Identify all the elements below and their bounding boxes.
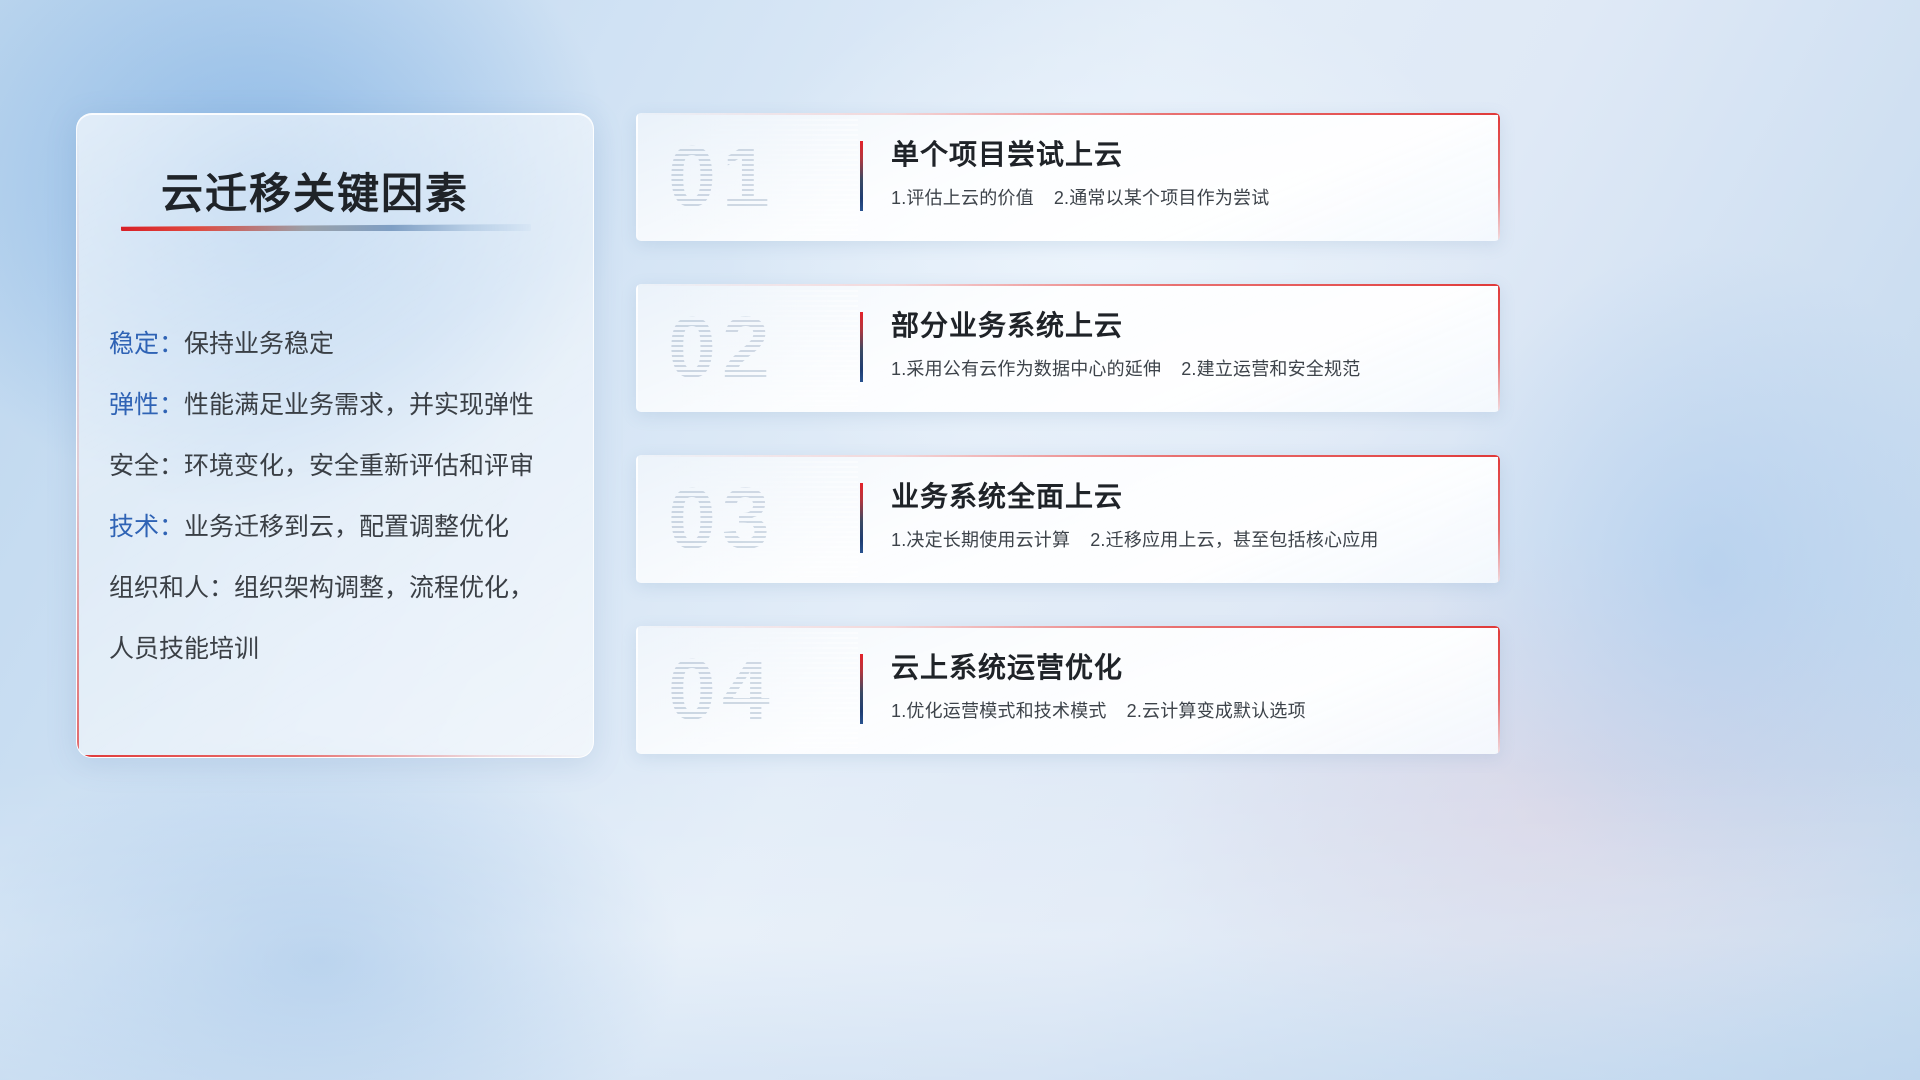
factor-key: 技术： (109, 513, 184, 541)
factor-key: 安全： (109, 452, 184, 480)
step-card-02[interactable]: 02 部分业务系统上云 1.采用公有云作为数据中心的延伸2.建立运营和安全规范 (636, 284, 1500, 412)
card-left-highlight (636, 284, 638, 412)
list-item: 安全：环境变化，安全重新评估和评审 (109, 436, 575, 497)
card-body: 单个项目尝试上云 1.评估上云的价值2.通常以某个项目作为尝试 (891, 135, 1476, 210)
list-item: 技术：业务迁移到云，配置调整优化 (109, 497, 575, 558)
card-point-2: 2.迁移应用上云，甚至包括核心应用 (1090, 530, 1378, 550)
card-body: 业务系统全面上云 1.决定长期使用云计算2.迁移应用上云，甚至包括核心应用 (891, 477, 1476, 552)
step-number-ghost: 01 (668, 119, 858, 235)
factor-key: 弹性： (109, 391, 184, 419)
card-description: 1.优化运营模式和技术模式2.云计算变成默认选项 (891, 697, 1476, 723)
card-divider-bar (860, 483, 863, 553)
card-body: 部分业务系统上云 1.采用公有云作为数据中心的延伸2.建立运营和安全规范 (891, 306, 1476, 381)
card-divider-bar (860, 312, 863, 382)
card-top-accent (636, 626, 1500, 628)
page-title: 云迁移关键因素 (161, 160, 469, 221)
list-item: 稳定：保持业务稳定 (109, 314, 575, 375)
card-divider-bar (860, 654, 863, 724)
step-card-01[interactable]: 01 单个项目尝试上云 1.评估上云的价值2.通常以某个项目作为尝试 (636, 113, 1500, 241)
card-right-accent (1498, 455, 1500, 583)
card-point-1: 1.优化运营模式和技术模式 (891, 701, 1107, 721)
step-card-list: 01 单个项目尝试上云 1.评估上云的价值2.通常以某个项目作为尝试 02 部分… (636, 113, 1500, 797)
factor-value: 业务迁移到云，配置调整优化 (184, 513, 509, 541)
card-right-accent (1498, 626, 1500, 754)
factor-value: 环境变化，安全重新评估和评审 (184, 452, 534, 480)
card-body: 云上系统运营优化 1.优化运营模式和技术模式2.云计算变成默认选项 (891, 648, 1476, 723)
card-top-accent (636, 113, 1500, 115)
card-description: 1.评估上云的价值2.通常以某个项目作为尝试 (891, 184, 1476, 210)
card-top-accent (636, 455, 1500, 457)
card-left-highlight (636, 455, 638, 583)
card-description: 1.采用公有云作为数据中心的延伸2.建立运营和安全规范 (891, 355, 1476, 381)
card-point-2: 2.建立运营和安全规范 (1181, 359, 1360, 379)
list-item: 弹性：性能满足业务需求，并实现弹性 (109, 375, 575, 436)
factor-value: 性能满足业务需求，并实现弹性 (184, 391, 534, 419)
factor-key: 组织和人： (109, 574, 234, 602)
card-title: 部分业务系统上云 (891, 306, 1476, 346)
card-right-accent (1498, 113, 1500, 241)
step-number-ghost: 02 (668, 290, 858, 406)
list-item: 人员技能培训 (109, 619, 575, 680)
card-title: 单个项目尝试上云 (891, 135, 1476, 175)
card-left-highlight (636, 626, 638, 754)
card-title: 云上系统运营优化 (891, 648, 1476, 688)
card-point-2: 2.通常以某个项目作为尝试 (1054, 188, 1270, 208)
background-sheen (0, 760, 1920, 1080)
factor-list: 稳定：保持业务稳定 弹性：性能满足业务需求，并实现弹性 安全：环境变化，安全重新… (109, 314, 575, 680)
list-item: 组织和人：组织架构调整，流程优化， (109, 558, 575, 619)
card-left-highlight (636, 113, 638, 241)
factor-key: 稳定： (109, 330, 184, 358)
step-card-03[interactable]: 03 业务系统全面上云 1.决定长期使用云计算2.迁移应用上云，甚至包括核心应用 (636, 455, 1500, 583)
card-title: 业务系统全面上云 (891, 477, 1476, 517)
factor-value: 人员技能培训 (109, 635, 259, 663)
step-number-ghost: 04 (668, 632, 858, 748)
card-right-accent (1498, 284, 1500, 412)
card-point-1: 1.采用公有云作为数据中心的延伸 (891, 359, 1161, 379)
step-number-ghost: 03 (668, 461, 858, 577)
key-factors-panel: 云迁移关键因素 稳定：保持业务稳定 弹性：性能满足业务需求，并实现弹性 安全：环… (76, 113, 594, 758)
card-divider-bar (860, 141, 863, 211)
card-description: 1.决定长期使用云计算2.迁移应用上云，甚至包括核心应用 (891, 526, 1476, 552)
title-underline-rule (121, 224, 531, 231)
card-point-2: 2.云计算变成默认选项 (1127, 701, 1306, 721)
card-top-accent (636, 284, 1500, 286)
card-point-1: 1.决定长期使用云计算 (891, 530, 1070, 550)
step-card-04[interactable]: 04 云上系统运营优化 1.优化运营模式和技术模式2.云计算变成默认选项 (636, 626, 1500, 754)
factor-value: 保持业务稳定 (184, 330, 334, 358)
factor-value: 组织架构调整，流程优化， (234, 574, 534, 602)
card-point-1: 1.评估上云的价值 (891, 188, 1034, 208)
